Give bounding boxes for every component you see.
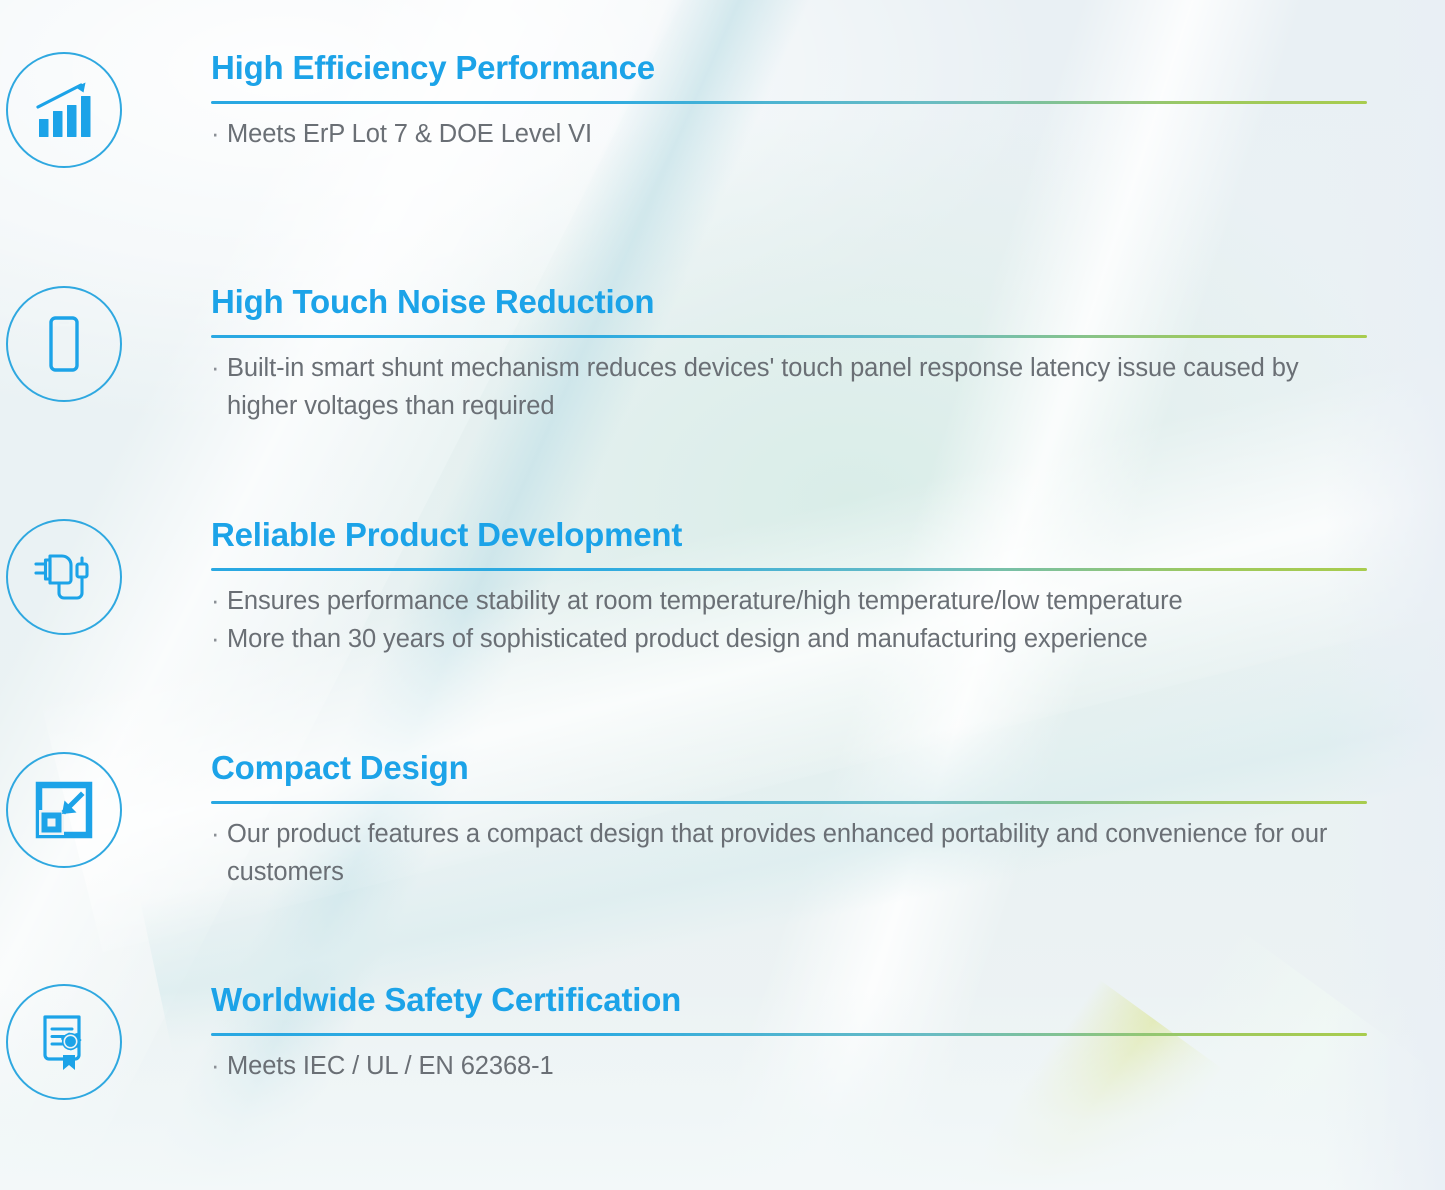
feature-divider	[211, 335, 1367, 338]
bullet-text: Meets IEC / UL / EN 62368-1	[227, 1047, 1367, 1085]
compact-resize-icon	[6, 752, 122, 868]
feature-title: Reliable Product Development	[211, 517, 1367, 554]
list-item: · Meets ErP Lot 7 & DOE Level VI	[211, 115, 1367, 153]
bullet-text: Ensures performance stability at room te…	[227, 582, 1367, 620]
feature-body: Worldwide Safety Certification · Meets I…	[128, 982, 1445, 1085]
bullet-text: Our product features a compact design th…	[227, 815, 1367, 892]
bullet-marker: ·	[211, 815, 227, 892]
feature-bullet-list: · Meets IEC / UL / EN 62368-1	[211, 1047, 1367, 1085]
feature-title: Worldwide Safety Certification	[211, 982, 1367, 1019]
list-item: · Meets IEC / UL / EN 62368-1	[211, 1047, 1367, 1085]
feature-title: High Efficiency Performance	[211, 50, 1367, 87]
bullet-marker: ·	[211, 115, 227, 153]
feature-bullet-list: · Our product features a compact design …	[211, 815, 1367, 892]
bullet-marker: ·	[211, 349, 227, 426]
bullet-text: More than 30 years of sophisticated prod…	[227, 620, 1367, 658]
list-item: · More than 30 years of sophisticated pr…	[211, 620, 1367, 658]
feature-bullet-list: · Ensures performance stability at room …	[211, 582, 1367, 659]
feature-item-high-touch-noise-reduction: High Touch Noise Reduction · Built-in sm…	[0, 284, 1445, 425]
bullet-marker: ·	[211, 620, 227, 658]
feature-body: Reliable Product Development · Ensures p…	[128, 517, 1445, 658]
feature-divider	[211, 568, 1367, 571]
feature-icon-wrapper	[0, 982, 128, 1100]
feature-icon-wrapper	[0, 750, 128, 868]
feature-body: High Touch Noise Reduction · Built-in sm…	[128, 284, 1445, 425]
feature-divider	[211, 101, 1367, 104]
feature-item-worldwide-safety-certification: Worldwide Safety Certification · Meets I…	[0, 982, 1445, 1100]
feature-bullet-list: · Built-in smart shunt mechanism reduces…	[211, 349, 1367, 426]
feature-icon-wrapper	[0, 284, 128, 402]
bullet-marker: ·	[211, 582, 227, 620]
list-item: · Built-in smart shunt mechanism reduces…	[211, 349, 1367, 426]
feature-item-compact-design: Compact Design · Our product features a …	[0, 750, 1445, 891]
list-item: · Ensures performance stability at room …	[211, 582, 1367, 620]
feature-divider	[211, 1033, 1367, 1036]
feature-body: High Efficiency Performance · Meets ErP …	[128, 50, 1445, 153]
feature-body: Compact Design · Our product features a …	[128, 750, 1445, 891]
feature-icon-wrapper	[0, 50, 128, 168]
bullet-text: Built-in smart shunt mechanism reduces d…	[227, 349, 1367, 426]
bullet-marker: ·	[211, 1047, 227, 1085]
certificate-seal-icon	[6, 984, 122, 1100]
feature-title: Compact Design	[211, 750, 1367, 787]
smartphone-icon	[6, 286, 122, 402]
bullet-text: Meets ErP Lot 7 & DOE Level VI	[227, 115, 1367, 153]
feature-icon-wrapper	[0, 517, 128, 635]
feature-list: High Efficiency Performance · Meets ErP …	[0, 0, 1445, 1190]
list-item: · Our product features a compact design …	[211, 815, 1367, 892]
feature-title: High Touch Noise Reduction	[211, 284, 1367, 321]
bar-chart-growth-icon	[6, 52, 122, 168]
feature-item-reliable-product-development: Reliable Product Development · Ensures p…	[0, 517, 1445, 658]
feature-bullet-list: · Meets ErP Lot 7 & DOE Level VI	[211, 115, 1367, 153]
power-adapter-icon	[6, 519, 122, 635]
feature-item-high-efficiency-performance: High Efficiency Performance · Meets ErP …	[0, 50, 1445, 168]
feature-divider	[211, 801, 1367, 804]
